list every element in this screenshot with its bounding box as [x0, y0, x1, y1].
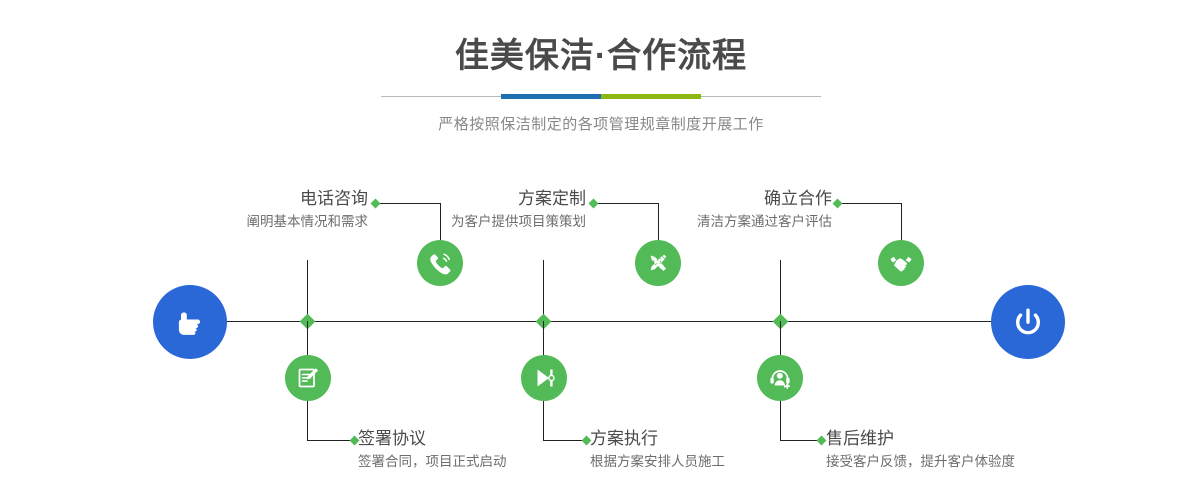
step-icon-circle[interactable] [635, 240, 681, 286]
handshake-icon [887, 249, 915, 277]
flow-start-node[interactable] [153, 285, 227, 359]
connector-vertical [307, 260, 308, 321]
customer-service-icon [766, 364, 794, 392]
connector-vertical [307, 400, 308, 440]
step-icon-circle[interactable] [757, 355, 803, 401]
step-label: 电话咨询 阐明基本情况和需求 [120, 188, 368, 232]
connector-vertical [780, 400, 781, 440]
step-title: 方案定制 [340, 188, 586, 210]
step-icon-circle[interactable] [521, 355, 567, 401]
step-label: 售后维护 接受客户反馈，提升客户体验度 [826, 428, 1015, 472]
label-connector-dot [833, 199, 843, 209]
pencil-ruler-icon [644, 249, 672, 277]
step-label: 方案执行 根据方案安排人员施工 [590, 428, 725, 472]
step-description: 为客户提供项目策策划 [340, 212, 586, 232]
connector-vertical [543, 400, 544, 440]
step-description: 根据方案安排人员施工 [590, 452, 725, 472]
connector-horizontal [307, 440, 355, 441]
cooperation-flow-infographic: 佳美保洁·合作流程 严格按照保洁制定的各项管理规章制度开展工作 [0, 0, 1202, 502]
step-description: 接受客户反馈，提升客户体验度 [826, 452, 1015, 472]
step-title: 确立合作 [586, 188, 832, 210]
power-icon [1008, 302, 1048, 342]
sign-document-icon [294, 364, 322, 392]
pointing-hand-icon [170, 302, 210, 342]
play-execute-icon [530, 364, 558, 392]
step-title: 电话咨询 [120, 188, 368, 210]
step-description: 清洁方案通过客户评估 [586, 212, 832, 232]
connector-vertical [543, 260, 544, 321]
step-label: 方案定制 为客户提供项目策策划 [340, 188, 586, 232]
flow-diagram: 电话咨询 阐明基本情况和需求 [0, 0, 1202, 502]
step-description: 签署合同，项目正式启动 [358, 452, 507, 472]
connector-vertical [780, 260, 781, 321]
flow-end-node[interactable] [991, 285, 1065, 359]
step-title: 售后维护 [826, 428, 1015, 450]
step-icon-circle[interactable] [285, 355, 331, 401]
phone-call-icon [426, 249, 454, 277]
connector-horizontal [838, 203, 902, 204]
timeline-axis [190, 321, 1028, 322]
step-label: 签署协议 签署合同，项目正式启动 [358, 428, 507, 472]
step-icon-circle[interactable] [878, 240, 924, 286]
step-label: 确立合作 清洁方案通过客户评估 [586, 188, 832, 232]
label-connector-dot [817, 436, 827, 446]
step-title: 签署协议 [358, 428, 507, 450]
step-icon-circle[interactable] [417, 240, 463, 286]
connector-vertical [901, 203, 902, 240]
step-title: 方案执行 [590, 428, 725, 450]
step-description: 阐明基本情况和需求 [120, 212, 368, 232]
